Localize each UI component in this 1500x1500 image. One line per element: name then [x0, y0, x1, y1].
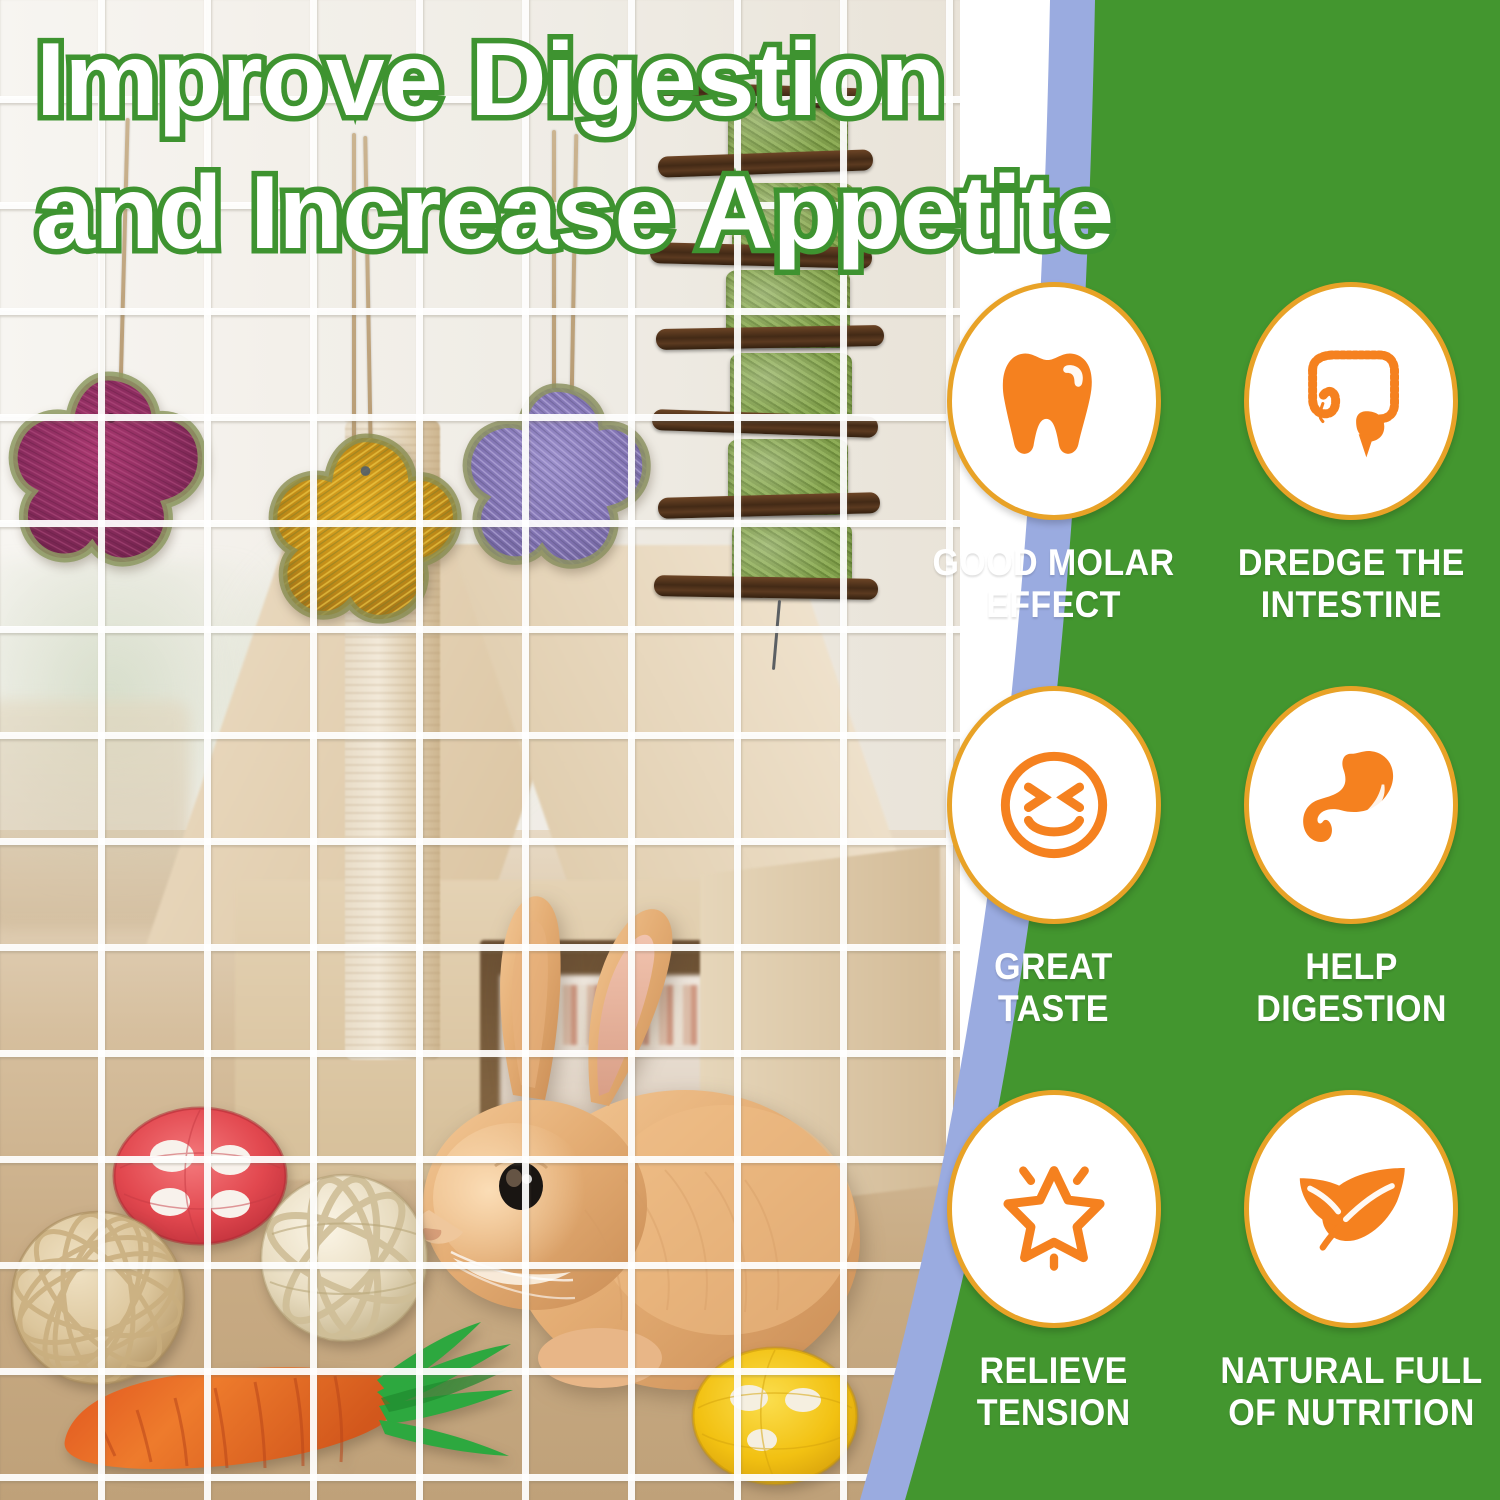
- feature-great-taste[interactable]: GREAT TASTE: [905, 686, 1203, 1030]
- intestine-icon: [1287, 337, 1415, 465]
- leaf-icon: [1287, 1145, 1415, 1273]
- tooth-icon: [990, 337, 1118, 465]
- feature-help-digestion[interactable]: HELP DIGESTION: [1203, 686, 1500, 1030]
- woven-grass-ball-toy: [258, 1172, 430, 1344]
- feature-row-1: GOOD MOLAR EFFECT: [905, 282, 1500, 626]
- stomach-icon: [1287, 741, 1415, 869]
- feature-label-line1: HELP: [1305, 946, 1397, 987]
- rose-flower-hay-cake: [8, 370, 208, 570]
- feature-icon-bubble: [1244, 1090, 1458, 1328]
- feature-label-line1: DREDGE THE: [1238, 542, 1465, 583]
- feature-icon-bubble: [947, 1090, 1161, 1328]
- lavender-flower-hay-cake: [462, 382, 652, 572]
- feature-icon-bubble: [1244, 686, 1458, 924]
- apple-stick-3: [656, 325, 884, 350]
- headline-line-2: and Increase Appetite: [36, 147, 1158, 280]
- feature-label-line1: NATURAL FULL: [1220, 1350, 1482, 1391]
- marigold-flower-hay-cake: [268, 432, 463, 627]
- feature-label-line2: OF NUTRITION: [1228, 1392, 1474, 1433]
- feature-relieve-tension[interactable]: RELIEVE TENSION: [905, 1090, 1203, 1434]
- product-infographic: GOOD MOLAR EFFECT: [0, 0, 1500, 1500]
- feature-label: GOOD MOLAR EFFECT: [933, 542, 1175, 626]
- feature-label: NATURAL FULL OF NUTRITION: [1220, 1350, 1482, 1434]
- feature-label-line1: GREAT: [995, 946, 1113, 987]
- page-title: Improve Digestion and Increase Appetite: [36, 14, 1158, 280]
- feature-icon-bubble: [1244, 282, 1458, 520]
- feature-label: DREDGE THE INTESTINE: [1238, 542, 1465, 626]
- feature-label: RELIEVE TENSION: [977, 1350, 1131, 1434]
- feature-label-line1: RELIEVE: [980, 1350, 1128, 1391]
- feature-dredge-the-intestine[interactable]: DREDGE THE INTESTINE: [1203, 282, 1500, 626]
- feature-grid: GOOD MOLAR EFFECT: [905, 282, 1500, 1482]
- apple-stick-5: [658, 492, 880, 519]
- feature-label-line2: TASTE: [998, 988, 1109, 1029]
- feature-icon-bubble: [947, 282, 1161, 520]
- feature-icon-bubble: [947, 686, 1161, 924]
- feature-row-3: RELIEVE TENSION NATURAL FULL OF N: [905, 1090, 1500, 1434]
- feature-good-molar-effect[interactable]: GOOD MOLAR EFFECT: [905, 282, 1203, 626]
- apple-stick-6: [654, 575, 878, 600]
- star-icon: [990, 1145, 1118, 1273]
- smiley-icon: [990, 741, 1118, 869]
- yellow-loofah-slice-toy: [690, 1340, 860, 1488]
- feature-label-line2: DIGESTION: [1256, 988, 1447, 1029]
- feature-label: GREAT TASTE: [995, 946, 1113, 1030]
- feature-label-line2: TENSION: [977, 1392, 1131, 1433]
- feature-label-line1: GOOD MOLAR: [933, 542, 1175, 583]
- feature-natural-full-of-nutrition[interactable]: NATURAL FULL OF NUTRITION: [1203, 1090, 1500, 1434]
- headline-line-1: Improve Digestion: [36, 14, 1158, 147]
- feature-label: HELP DIGESTION: [1256, 946, 1447, 1030]
- feature-label-line2: EFFECT: [986, 584, 1121, 625]
- background-basket: [0, 700, 190, 930]
- feature-label-line2: INTESTINE: [1261, 584, 1442, 625]
- paper-carrot-toy: [45, 1322, 515, 1500]
- feature-row-2: GREAT TASTE HELP DIGESTION: [905, 686, 1500, 1030]
